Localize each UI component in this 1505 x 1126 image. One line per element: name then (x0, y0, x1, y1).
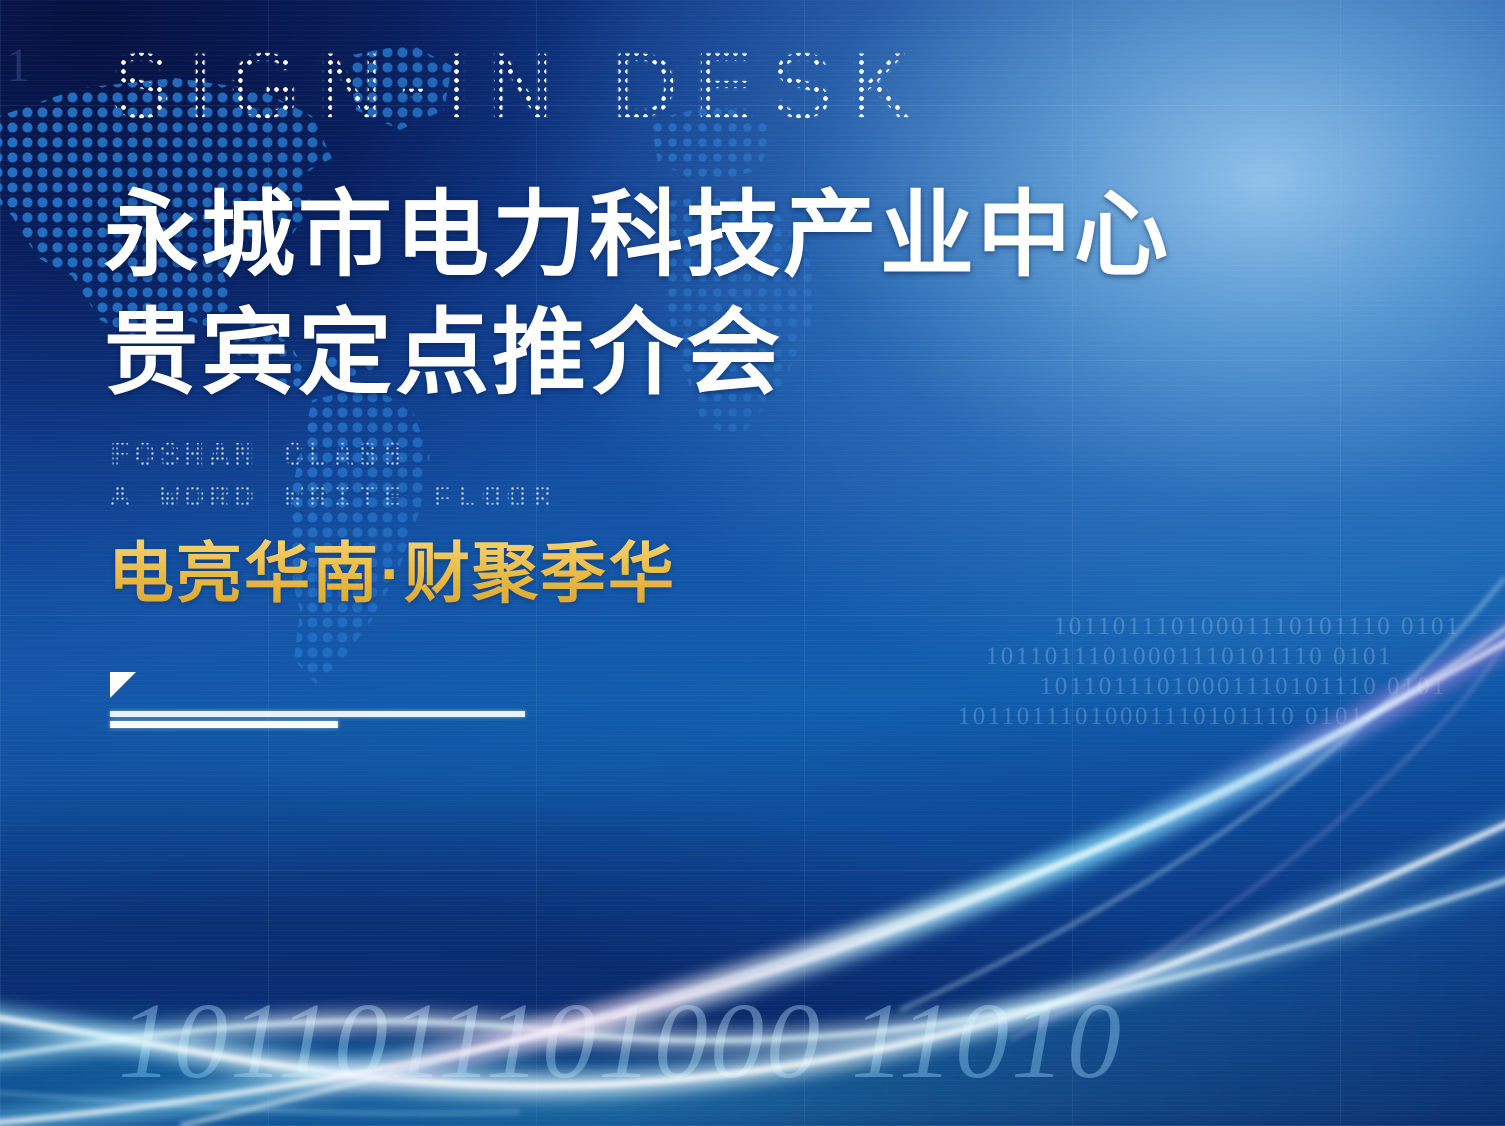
tagline-gold: 电亮华南·财聚季华 (108, 534, 676, 612)
decorative-rule-short (110, 721, 338, 728)
event-poster: 1 10110111010001110101110 0101 101101110… (0, 0, 1505, 1126)
decorative-rule-long (110, 711, 525, 717)
kicker-sign-in-desk: SIGN-IN DESK (110, 40, 926, 132)
subtitle-english: FOSHAN CLASS A WORD WRITE FLOOR (110, 436, 556, 520)
title-line-1: 永城市电力科技产业中心 (104, 182, 1171, 287)
title-line-2: 贵宾定点推介会 (104, 294, 1171, 412)
page-title: 永城市电力科技产业中心 贵宾定点推介会 (104, 176, 1171, 412)
subtitle-line-2: A WORD WRITE FLOOR (110, 478, 556, 520)
triangle-flag-icon (110, 672, 136, 698)
poster-content: SIGN-IN DESK 永城市电力科技产业中心 贵宾定点推介会 FOSHAN … (0, 0, 1505, 1126)
decorative-marker (110, 672, 530, 728)
subtitle-line-1: FOSHAN CLASS (110, 436, 556, 478)
